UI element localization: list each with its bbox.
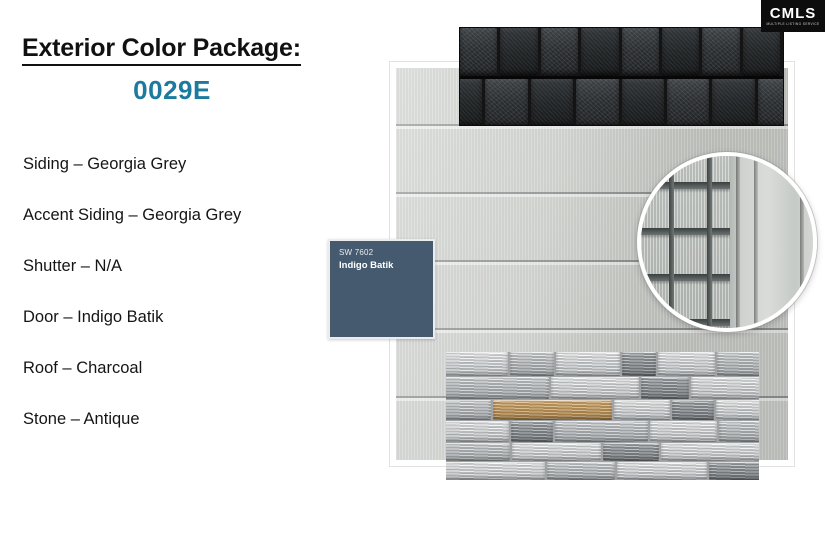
- shingle-row-upper: [460, 28, 783, 76]
- shingle-tab: [702, 28, 739, 76]
- lap-groove: [754, 156, 758, 328]
- shingle-tab: [622, 79, 664, 126]
- stone-piece: [691, 377, 759, 399]
- shingle-tab: [531, 79, 573, 126]
- shake-course-line: [641, 319, 730, 326]
- stone-course-accent: [446, 400, 759, 420]
- shingle-tab: [459, 79, 482, 126]
- package-code: 0029E: [22, 75, 322, 106]
- shake-course-line: [641, 274, 730, 281]
- shingle-tab: [622, 28, 659, 76]
- shingle-tab: [667, 79, 709, 126]
- stone-piece: [672, 400, 714, 420]
- shake-joint-line: [707, 156, 712, 328]
- shingle-row-lower: [459, 79, 784, 126]
- stone-piece: [716, 400, 759, 420]
- stone-piece: [717, 352, 759, 376]
- title-block: Exterior Color Package: 0029E: [22, 34, 362, 106]
- stone-piece: [603, 443, 659, 461]
- spec-item-door: Door – Indigo Batik: [23, 309, 368, 326]
- siding-detail-image: [641, 156, 813, 328]
- stone-piece: [650, 421, 717, 442]
- lap-groove: [800, 156, 804, 328]
- page-title: Exterior Color Package:: [22, 34, 301, 66]
- shake-course-line: [641, 228, 730, 235]
- stone-piece: [446, 421, 509, 442]
- lap-siding-zone: [730, 156, 813, 328]
- lap-groove: [736, 156, 740, 328]
- stone-course: [446, 462, 759, 480]
- stone-piece-accent: [493, 400, 612, 420]
- stone-veneer-sample: [446, 352, 759, 480]
- stone-piece: [661, 443, 759, 461]
- stone-piece: [719, 421, 759, 442]
- shingle-tab: [541, 28, 578, 76]
- cmls-logo-subtext: MULTIPLE LISTING SERVICE: [766, 23, 819, 26]
- paint-swatch-name: Indigo Batik: [339, 260, 393, 271]
- stone-piece: [555, 421, 647, 442]
- stone-course: [446, 377, 759, 399]
- shingle-tab: [576, 79, 618, 126]
- shingle-tab: [743, 28, 780, 76]
- paint-swatch-card: SW 7602 Indigo Batik: [328, 239, 435, 339]
- stone-piece: [617, 462, 707, 480]
- stone-piece: [641, 377, 689, 399]
- stone-course: [446, 443, 759, 461]
- stone-piece: [709, 462, 759, 480]
- stone-piece: [658, 352, 715, 376]
- shingle-tab: [485, 79, 527, 126]
- siding-detail-circle: [637, 152, 817, 332]
- stone-piece: [446, 443, 510, 461]
- stone-course: [446, 352, 759, 376]
- stone-piece: [510, 352, 554, 376]
- roof-shingle-sample: [459, 27, 784, 126]
- cmls-logo-wordmark: CMLS: [770, 6, 817, 21]
- spec-item-roof: Roof – Charcoal: [23, 360, 368, 377]
- shake-course-line: [641, 182, 730, 189]
- specification-list: Siding – Georgia Grey Accent Siding – Ge…: [23, 156, 368, 462]
- stone-piece: [547, 462, 615, 480]
- cmls-logo: CMLS MULTIPLE LISTING SERVICE: [761, 0, 825, 32]
- stone-piece: [446, 400, 491, 420]
- stone-piece: [446, 377, 549, 399]
- stone-piece: [551, 377, 640, 399]
- stone-piece: [512, 443, 600, 461]
- shingle-tab: [581, 28, 618, 76]
- shingle-tab: [460, 28, 497, 76]
- spec-item-accent-siding: Accent Siding – Georgia Grey: [23, 207, 368, 224]
- shake-siding-zone: [641, 156, 730, 328]
- paint-swatch-code: SW 7602: [339, 248, 373, 257]
- stone-piece: [446, 462, 545, 480]
- shingle-tab: [712, 79, 754, 126]
- stone-piece: [622, 352, 657, 376]
- spec-item-siding: Siding – Georgia Grey: [23, 156, 368, 173]
- spec-item-shutter: Shutter – N/A: [23, 258, 368, 275]
- shingle-tab: [500, 28, 537, 76]
- spec-item-stone: Stone – Antique: [23, 411, 368, 428]
- shingle-tab: [758, 79, 784, 126]
- shake-joint-line: [669, 156, 674, 328]
- shingle-tab: [662, 28, 699, 76]
- stone-piece: [556, 352, 619, 376]
- stone-course: [446, 421, 759, 442]
- stone-piece: [614, 400, 670, 420]
- stone-piece: [446, 352, 508, 376]
- stone-piece: [511, 421, 554, 442]
